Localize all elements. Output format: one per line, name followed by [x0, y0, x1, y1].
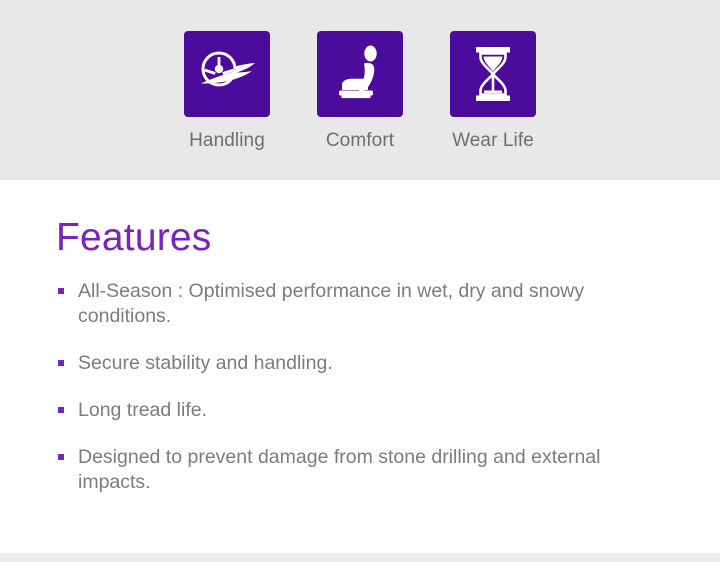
features-list: All-Season : Optimised performance in we… — [56, 279, 664, 495]
feature-icon-item-handling[interactable]: Handling — [184, 31, 270, 152]
feature-list-item-text: Designed to prevent damage from stone dr… — [78, 446, 600, 493]
bottom-divider — [0, 553, 720, 562]
bullet-square-icon — [58, 360, 64, 366]
feature-list-item-text: Secure stability and handling. — [78, 352, 333, 374]
steering-wheel-road-icon — [198, 48, 256, 100]
comfort-tile[interactable] — [317, 31, 403, 117]
features-section: Features All-Season : Optimised performa… — [0, 180, 720, 553]
product-feature-panel: Handling Comfort — [0, 0, 720, 562]
feature-list-item: Designed to prevent damage from stone dr… — [56, 445, 664, 495]
feature-list-item: All-Season : Optimised performance in we… — [56, 279, 664, 329]
car-seat-icon — [333, 45, 387, 103]
wear-life-tile[interactable] — [450, 31, 536, 117]
bullet-square-icon — [58, 288, 64, 294]
handling-tile[interactable] — [184, 31, 270, 117]
hourglass-icon — [471, 45, 515, 103]
feature-icon-band: Handling Comfort — [0, 0, 720, 180]
bullet-square-icon — [58, 454, 64, 460]
feature-list-item: Long tread life. — [56, 398, 664, 423]
bullet-square-icon — [58, 407, 64, 413]
feature-list-item-text: Long tread life. — [78, 399, 207, 421]
feature-list-item: Secure stability and handling. — [56, 351, 664, 376]
features-heading: Features — [56, 218, 664, 259]
feature-icon-label: Handling — [189, 130, 265, 152]
feature-icon-label: Comfort — [326, 130, 394, 152]
feature-list-item-text: All-Season : Optimised performance in we… — [78, 280, 584, 327]
feature-icon-label: Wear Life — [452, 130, 534, 152]
feature-icon-item-wear-life[interactable]: Wear Life — [450, 31, 536, 152]
feature-icon-item-comfort[interactable]: Comfort — [317, 31, 403, 152]
